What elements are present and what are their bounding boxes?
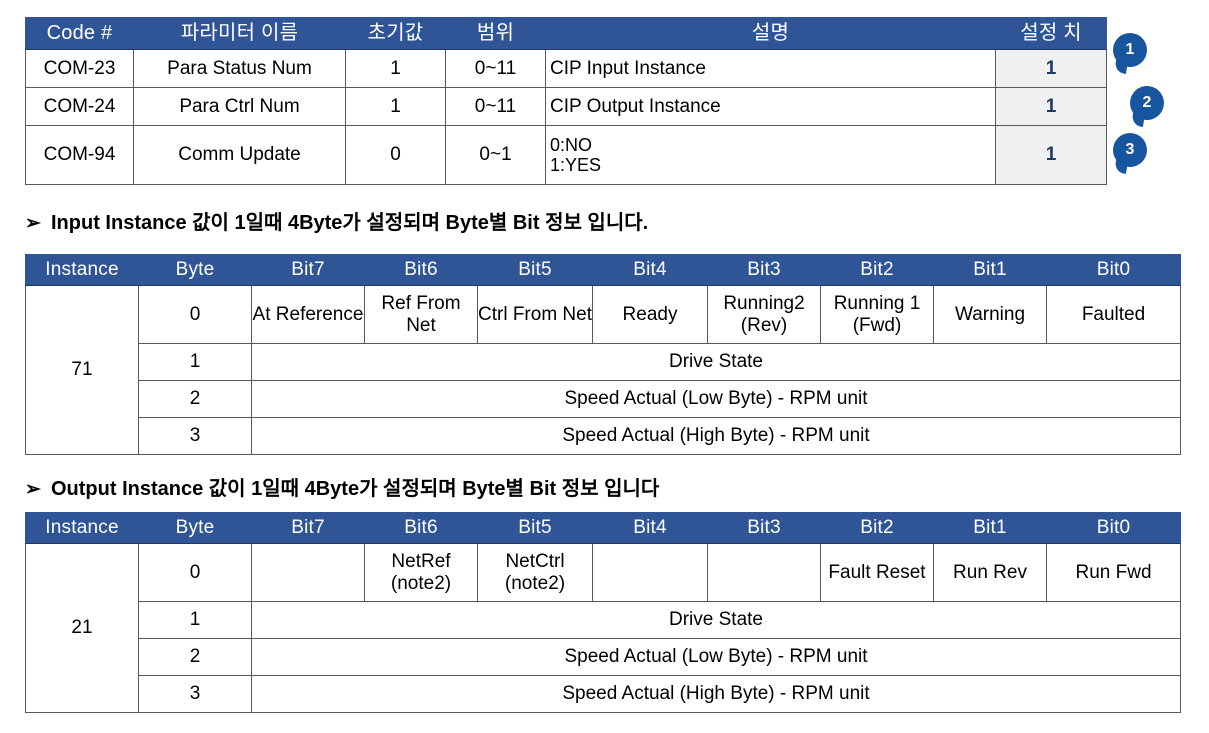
table-row: 3 Speed Actual (High Byte) - RPM unit <box>26 676 1181 713</box>
header-bit3: Bit3 <box>708 513 821 544</box>
cell-instance: 21 <box>26 544 139 713</box>
cell-byte-number: 1 <box>139 602 252 639</box>
cell-bit1: Warning <box>934 286 1047 344</box>
cell-code: COM-23 <box>26 50 134 88</box>
cell-bit2: Fault Reset <box>821 544 934 602</box>
header-parameter-name: 파라미터 이름 <box>134 18 346 50</box>
header-bit4: Bit4 <box>593 513 708 544</box>
table-row: COM-23 Para Status Num 1 0~11 CIP Input … <box>26 50 1107 88</box>
header-instance: Instance <box>26 513 139 544</box>
cell-range: 0~1 <box>446 126 546 185</box>
table-header-row: Instance Byte Bit7 Bit6 Bit5 Bit4 Bit3 B… <box>26 255 1181 286</box>
cell-bit2: Running 1 (Fwd) <box>821 286 934 344</box>
cell-bit3: Running2 (Rev) <box>708 286 821 344</box>
header-bit1: Bit1 <box>934 255 1047 286</box>
callout-badge-3[interactable]: 3 <box>1113 133 1147 167</box>
output-instance-table-container: Instance Byte Bit7 Bit6 Bit5 Bit4 Bit3 B… <box>25 512 1180 713</box>
table-row: 1 Drive State <box>26 344 1181 381</box>
header-instance: Instance <box>26 255 139 286</box>
description-line-1: 0:NO <box>550 135 995 155</box>
cell-bit5: NetCtrl (note2) <box>478 544 593 602</box>
cell-byte-number: 3 <box>139 418 252 455</box>
table-row: 71 0 At Reference Ref From Net Ctrl From… <box>26 286 1181 344</box>
cell-set-value: 1 <box>996 126 1107 185</box>
cell-bit5: Ctrl From Net <box>478 286 593 344</box>
table-row: 2 Speed Actual (Low Byte) - RPM unit <box>26 381 1181 418</box>
table-row: COM-94 Comm Update 0 0~1 0:NO 1:YES 1 <box>26 126 1107 185</box>
cell-byte-number: 2 <box>139 381 252 418</box>
header-bit7: Bit7 <box>252 255 365 286</box>
cell-byte-description: Drive State <box>252 602 1181 639</box>
cell-range: 0~11 <box>446 88 546 126</box>
header-bit1: Bit1 <box>934 513 1047 544</box>
cell-bit6: Ref From Net <box>365 286 478 344</box>
cell-byte-description: Drive State <box>252 344 1181 381</box>
parameter-table: Code # 파라미터 이름 초기값 범위 설명 설정 치 COM-23 Par… <box>25 17 1107 185</box>
description-line-2: 1:YES <box>550 155 995 175</box>
cell-description: 0:NO 1:YES <box>546 126 996 185</box>
cell-initial-value: 0 <box>346 126 446 185</box>
header-bit5: Bit5 <box>478 255 593 286</box>
cell-bit7 <box>252 544 365 602</box>
cell-bit4: Ready <box>593 286 708 344</box>
cell-range: 0~11 <box>446 50 546 88</box>
header-bit2: Bit2 <box>821 255 934 286</box>
cell-byte-number: 1 <box>139 344 252 381</box>
cell-set-value: 1 <box>996 88 1107 126</box>
table-row: 1 Drive State <box>26 602 1181 639</box>
callout-badge-2[interactable]: 2 <box>1130 86 1164 120</box>
cell-bit7: At Reference <box>252 286 365 344</box>
cell-bit4 <box>593 544 708 602</box>
cell-parameter-name: Comm Update <box>134 126 346 185</box>
cell-description: CIP Input Instance <box>546 50 996 88</box>
cell-code: COM-94 <box>26 126 134 185</box>
table-row: 3 Speed Actual (High Byte) - RPM unit <box>26 418 1181 455</box>
input-instance-bullet: ➢Input Instance 값이 1일때 4Byte가 설정되며 Byte별… <box>25 206 648 235</box>
cell-initial-value: 1 <box>346 50 446 88</box>
cell-byte-number: 3 <box>139 676 252 713</box>
header-bit3: Bit3 <box>708 255 821 286</box>
table-row: COM-24 Para Ctrl Num 1 0~11 CIP Output I… <box>26 88 1107 126</box>
header-bit7: Bit7 <box>252 513 365 544</box>
cell-initial-value: 1 <box>346 88 446 126</box>
input-instance-table: Instance Byte Bit7 Bit6 Bit5 Bit4 Bit3 B… <box>25 254 1181 455</box>
cell-bit1: Run Rev <box>934 544 1047 602</box>
bullet-arrow-icon: ➢ <box>25 478 51 501</box>
header-bit0: Bit0 <box>1047 255 1181 286</box>
input-instance-table-container: Instance Byte Bit7 Bit6 Bit5 Bit4 Bit3 B… <box>25 254 1180 455</box>
header-range: 범위 <box>446 18 546 50</box>
cell-byte-description: Speed Actual (High Byte) - RPM unit <box>252 676 1181 713</box>
output-instance-bullet: ➢Output Instance 값이 1일때 4Byte가 설정되며 Byte… <box>25 472 659 501</box>
cell-parameter-name: Para Status Num <box>134 50 346 88</box>
cell-bit0: Faulted <box>1047 286 1181 344</box>
cell-byte-number: 0 <box>139 286 252 344</box>
header-code: Code # <box>26 18 134 50</box>
output-instance-bullet-text: Output Instance 값이 1일때 4Byte가 설정되며 Byte별… <box>51 478 659 500</box>
table-row: 21 0 NetRef (note2) NetCtrl (note2) Faul… <box>26 544 1181 602</box>
parameter-table-container: Code # 파라미터 이름 초기값 범위 설명 설정 치 COM-23 Par… <box>25 17 1106 185</box>
header-bit2: Bit2 <box>821 513 934 544</box>
header-bit0: Bit0 <box>1047 513 1181 544</box>
table-row: 2 Speed Actual (Low Byte) - RPM unit <box>26 639 1181 676</box>
header-initial-value: 초기값 <box>346 18 446 50</box>
header-bit5: Bit5 <box>478 513 593 544</box>
cell-byte-description: Speed Actual (Low Byte) - RPM unit <box>252 639 1181 676</box>
cell-byte-description: Speed Actual (High Byte) - RPM unit <box>252 418 1181 455</box>
bullet-arrow-icon: ➢ <box>25 212 51 235</box>
table-header-row: Instance Byte Bit7 Bit6 Bit5 Bit4 Bit3 B… <box>26 513 1181 544</box>
cell-bit0: Run Fwd <box>1047 544 1181 602</box>
header-bit6: Bit6 <box>365 255 478 286</box>
cell-set-value: 1 <box>996 50 1107 88</box>
cell-code: COM-24 <box>26 88 134 126</box>
cell-byte-number: 0 <box>139 544 252 602</box>
callout-badge-1[interactable]: 1 <box>1113 33 1147 67</box>
header-byte: Byte <box>139 513 252 544</box>
cell-instance: 71 <box>26 286 139 455</box>
cell-byte-number: 2 <box>139 639 252 676</box>
cell-byte-description: Speed Actual (Low Byte) - RPM unit <box>252 381 1181 418</box>
table-header-row: Code # 파라미터 이름 초기값 범위 설명 설정 치 <box>26 18 1107 50</box>
cell-bit6: NetRef (note2) <box>365 544 478 602</box>
output-instance-table: Instance Byte Bit7 Bit6 Bit5 Bit4 Bit3 B… <box>25 512 1181 713</box>
header-bit4: Bit4 <box>593 255 708 286</box>
cell-parameter-name: Para Ctrl Num <box>134 88 346 126</box>
cell-bit3 <box>708 544 821 602</box>
cell-description: CIP Output Instance <box>546 88 996 126</box>
input-instance-bullet-text: Input Instance 값이 1일때 4Byte가 설정되며 Byte별 … <box>51 212 648 234</box>
header-bit6: Bit6 <box>365 513 478 544</box>
header-set-value: 설정 치 <box>996 18 1107 50</box>
header-byte: Byte <box>139 255 252 286</box>
header-description: 설명 <box>546 18 996 50</box>
